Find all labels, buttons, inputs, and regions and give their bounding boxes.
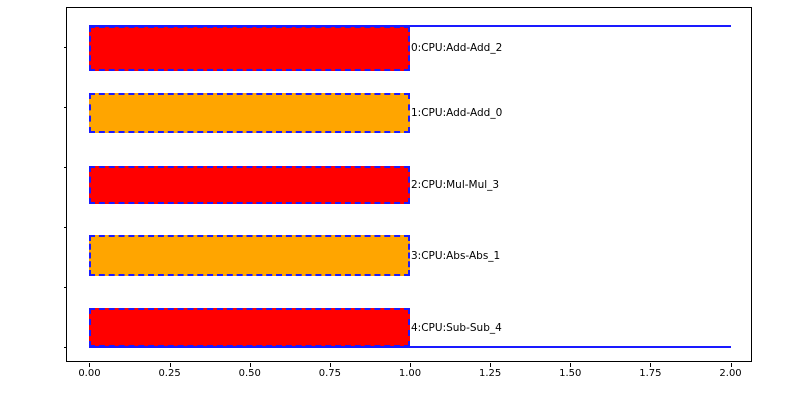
x-tick-mark: [570, 363, 571, 367]
x-tick-mark: [490, 363, 491, 367]
gantt-bar-label: 2:CPU:Mul-Mul_3: [411, 180, 499, 191]
gantt-bar-label: 3:CPU:Abs-Abs_1: [411, 251, 500, 262]
x-tick-label: 1.00: [380, 368, 440, 379]
x-tick-label: 1.75: [620, 368, 680, 379]
x-tick-mark: [170, 363, 171, 367]
x-tick-label: 0.50: [220, 368, 280, 379]
plot-area: 0:CPU:Add-Add_21:CPU:Add-Add_02:CPU:Mul-…: [67, 8, 751, 361]
gantt-bar[interactable]: [89, 235, 410, 276]
x-tick-mark: [650, 363, 651, 367]
chart-figure: 0:CPU:Add-Add_21:CPU:Add-Add_02:CPU:Mul-…: [0, 0, 800, 400]
x-tick-mark: [89, 363, 90, 367]
x-tick-mark: [731, 363, 732, 367]
x-tick-label: 1.25: [460, 368, 520, 379]
x-tick-label: 0.75: [300, 368, 360, 379]
x-tick-mark: [410, 363, 411, 367]
x-tick-mark: [250, 363, 251, 367]
guide-line: [89, 346, 730, 348]
gantt-bar[interactable]: [89, 26, 410, 71]
x-tick-label: 0.25: [140, 368, 200, 379]
gantt-bar-label: 4:CPU:Sub-Sub_4: [411, 323, 502, 334]
x-tick-label: 1.50: [540, 368, 600, 379]
gantt-bar-label: 0:CPU:Add-Add_2: [411, 43, 502, 54]
x-tick-label: 0.00: [59, 368, 119, 379]
gantt-bar[interactable]: [89, 93, 410, 133]
x-tick-mark: [330, 363, 331, 367]
gantt-bar[interactable]: [89, 166, 410, 205]
plot-axes: 0:CPU:Add-Add_21:CPU:Add-Add_02:CPU:Mul-…: [66, 7, 752, 362]
gantt-bar[interactable]: [89, 308, 410, 348]
gantt-bar-label: 1:CPU:Add-Add_0: [411, 108, 502, 119]
guide-line: [89, 25, 730, 27]
x-tick-label: 2.00: [701, 368, 761, 379]
